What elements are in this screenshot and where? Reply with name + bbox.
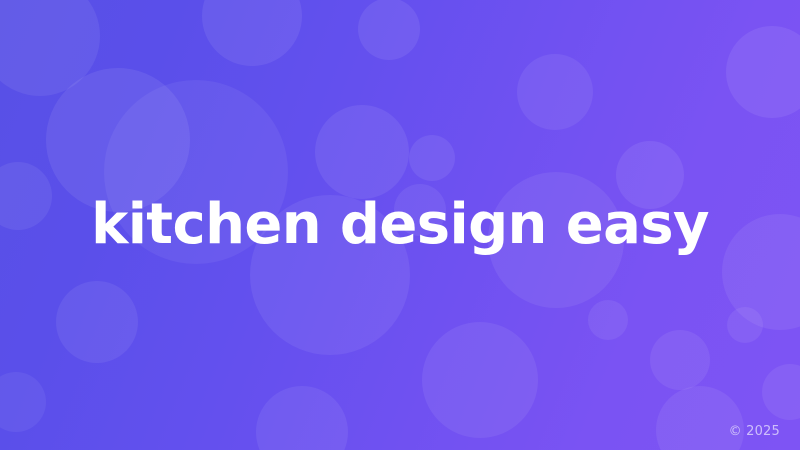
title-banner: kitchen design easy © 2025 xyxy=(0,0,800,450)
headline-container: kitchen design easy xyxy=(0,0,800,450)
page-title: kitchen design easy xyxy=(91,194,709,257)
copyright-notice: © 2025 xyxy=(729,425,780,438)
